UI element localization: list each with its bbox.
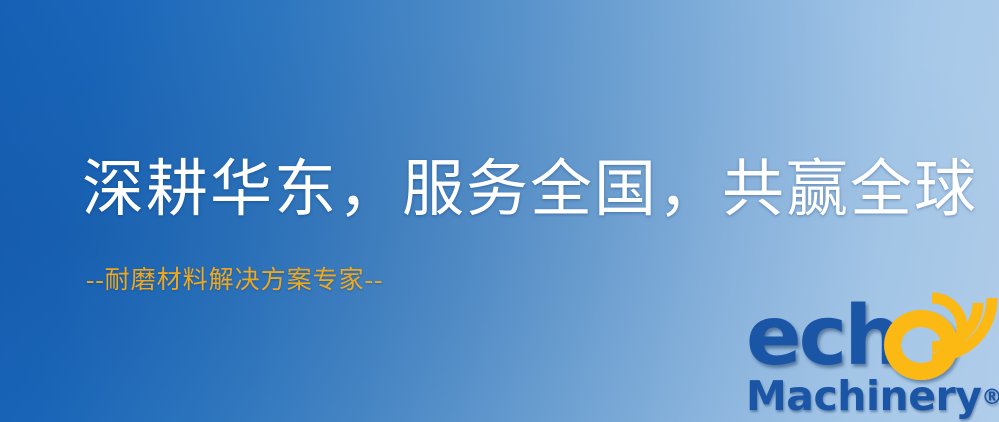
page-subtitle: --耐磨材料解决方案专家-- (86, 266, 383, 296)
registered-trademark-icon: ® (981, 385, 999, 409)
logo-wordmark-prefix: ech (746, 289, 900, 384)
page-title: 深耕华东，服务全国，共赢全球 (82, 153, 978, 227)
company-logo[interactable]: ech Machinery® (744, 296, 996, 420)
signal-waves-icon (930, 290, 999, 366)
logo-tagline: Machinery® (746, 374, 999, 419)
logo-tagline-text: Machinery (746, 372, 981, 420)
hero-banner: 深耕华东，服务全国，共赢全球 --耐磨材料解决方案专家-- ech Machin… (0, 0, 999, 422)
logo-wordmark-echo: ech (746, 296, 900, 378)
